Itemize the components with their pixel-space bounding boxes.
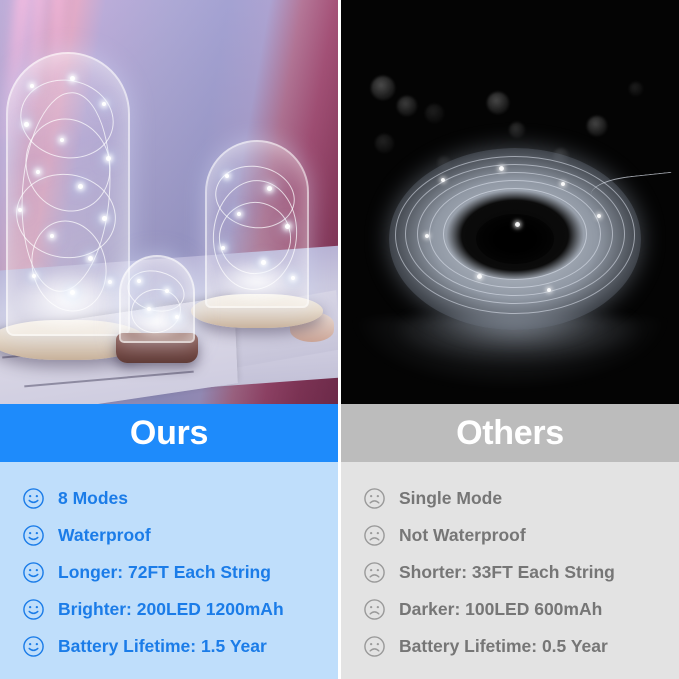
led-point	[291, 276, 295, 280]
feature-row: Shorter: 33FT Each String	[341, 554, 679, 591]
smiley-face-icon	[22, 635, 45, 658]
dome-inner-glow	[211, 258, 303, 304]
bokeh-circle	[397, 96, 417, 116]
ours-title: Ours	[130, 416, 208, 450]
ours-feature-list: 8 Modes Waterproof Longer: 72FT Each Str…	[0, 462, 338, 679]
dome-inner-glow	[123, 301, 191, 341]
led-point	[70, 290, 75, 295]
dome-inner-glow	[12, 268, 124, 332]
feature-label: Not Waterproof	[399, 527, 526, 545]
led-point	[425, 234, 429, 238]
led-point	[441, 178, 445, 182]
others-header: Others	[341, 404, 679, 462]
bokeh-circle	[509, 122, 525, 138]
led-point	[32, 274, 36, 278]
feature-row: Waterproof	[0, 517, 338, 554]
feature-label: Shorter: 33FT Each String	[399, 564, 615, 582]
led-point	[225, 174, 229, 178]
small-glass-dome	[119, 255, 195, 343]
smiley-face-icon	[22, 598, 45, 621]
led-point	[237, 212, 241, 216]
led-point	[50, 234, 54, 238]
led-point	[102, 216, 107, 221]
comparison-infographic: Ours Others 8 Modes	[0, 0, 679, 679]
sad-face-icon	[363, 598, 386, 621]
feature-label: Brighter: 200LED 1200mAh	[58, 601, 284, 619]
bokeh-circle	[587, 116, 607, 136]
feature-row: Longer: 72FT Each String	[0, 554, 338, 591]
header-row: Ours Others	[0, 404, 679, 462]
led-point	[165, 289, 169, 293]
wire-coil	[389, 148, 641, 330]
bokeh-circle	[629, 82, 643, 96]
smiley-face-icon	[22, 561, 45, 584]
led-point	[70, 76, 75, 81]
bokeh-circle	[371, 76, 395, 100]
led-point	[30, 84, 34, 88]
feature-row: Single Mode	[341, 480, 679, 517]
led-point	[547, 288, 551, 292]
led-point	[18, 208, 22, 212]
feature-lists-row: 8 Modes Waterproof Longer: 72FT Each Str…	[0, 462, 679, 679]
led-point	[221, 246, 225, 250]
smiley-face-icon	[22, 524, 45, 547]
led-point	[597, 214, 601, 218]
led-point	[78, 184, 83, 189]
led-point	[137, 279, 141, 283]
feature-label: Longer: 72FT Each String	[58, 564, 271, 582]
feature-row: Battery Lifetime: 0.5 Year	[341, 628, 679, 665]
ours-product-photo	[0, 0, 338, 404]
feature-row: Battery Lifetime: 1.5 Year	[0, 628, 338, 665]
sad-face-icon	[363, 561, 386, 584]
large-glass-dome	[6, 52, 130, 336]
led-point	[102, 102, 106, 106]
led-point	[285, 224, 290, 229]
led-point	[88, 256, 93, 261]
smiley-face-icon	[22, 487, 45, 510]
feature-label: 8 Modes	[58, 490, 128, 508]
led-point	[147, 307, 151, 311]
led-point	[24, 122, 29, 127]
led-point	[499, 166, 504, 171]
ours-header: Ours	[0, 404, 338, 462]
photo-row	[0, 0, 679, 404]
medium-glass-dome	[205, 140, 309, 308]
feature-row: Darker: 100LED 600mAh	[341, 591, 679, 628]
led-point	[36, 170, 40, 174]
led-point	[106, 156, 111, 161]
bokeh-circle	[425, 104, 444, 123]
feature-row: Brighter: 200LED 1200mAh	[0, 591, 338, 628]
led-point	[477, 274, 482, 279]
led-point	[175, 315, 179, 319]
feature-label: Battery Lifetime: 0.5 Year	[399, 638, 608, 656]
feature-row: Not Waterproof	[341, 517, 679, 554]
feature-label: Single Mode	[399, 490, 502, 508]
others-title: Others	[456, 416, 564, 450]
feature-label: Waterproof	[58, 527, 151, 545]
sad-face-icon	[363, 487, 386, 510]
led-point	[60, 138, 64, 142]
feature-label: Darker: 100LED 600mAh	[399, 601, 602, 619]
feature-row: 8 Modes	[0, 480, 338, 517]
led-point	[561, 182, 565, 186]
led-point	[261, 260, 266, 265]
led-point	[267, 186, 272, 191]
led-point	[515, 222, 520, 227]
led-point	[108, 280, 112, 284]
others-feature-list: Single Mode Not Waterproof Shorter: 33FT…	[341, 462, 679, 679]
feature-label: Battery Lifetime: 1.5 Year	[58, 638, 267, 656]
sad-face-icon	[363, 524, 386, 547]
bokeh-circle	[487, 92, 509, 114]
others-product-photo	[341, 0, 679, 404]
sad-face-icon	[363, 635, 386, 658]
